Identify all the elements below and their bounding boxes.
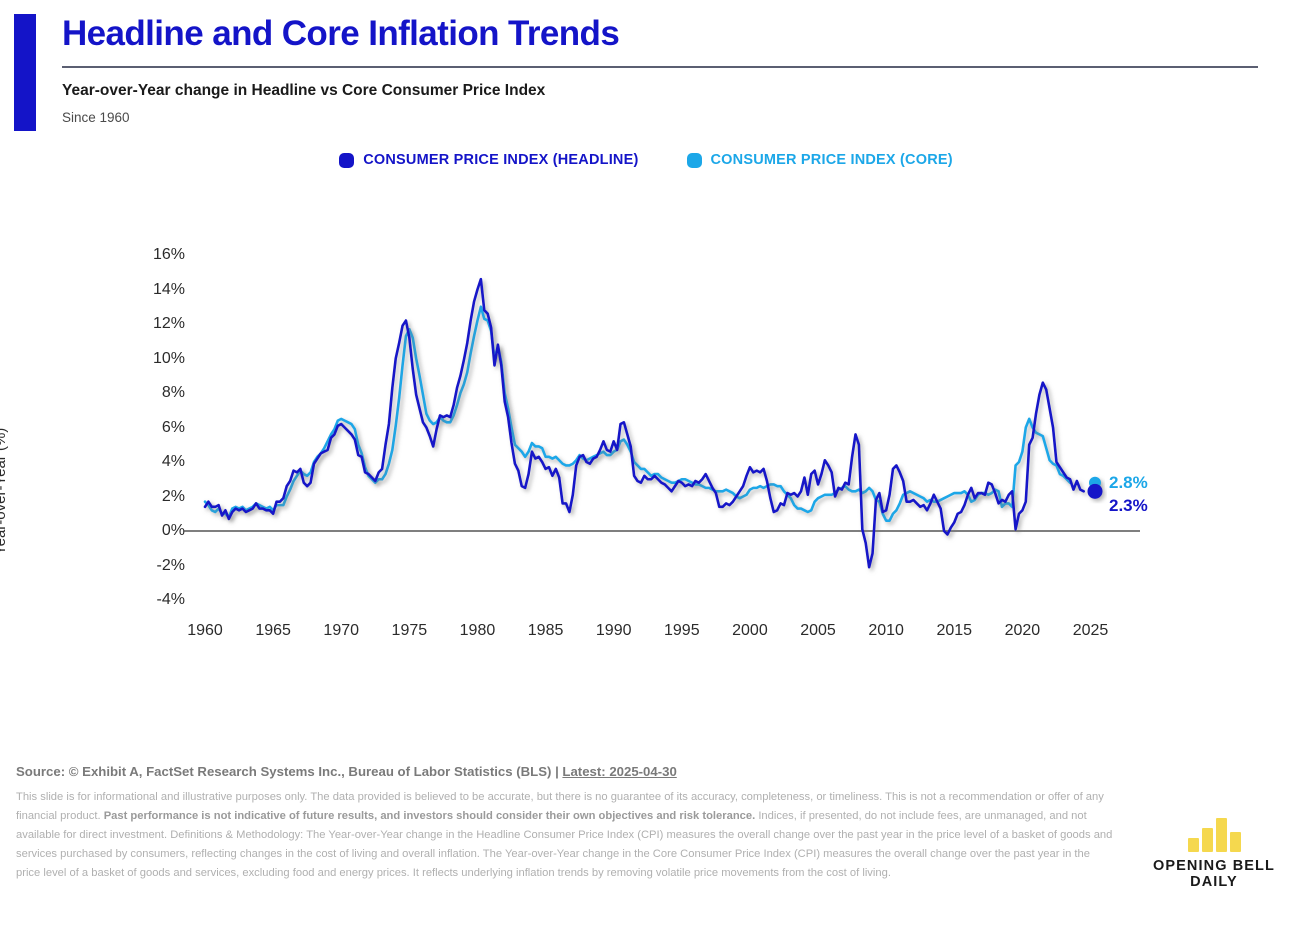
title-divider — [62, 66, 1258, 68]
source-line: Source: © Exhibit A, FactSet Research Sy… — [16, 764, 677, 779]
legend-item-headline[interactable]: CONSUMER PRICE INDEX (HEADLINE) — [339, 152, 638, 168]
legend-label-core: CONSUMER PRICE INDEX (CORE) — [711, 152, 953, 168]
accent-bar — [14, 14, 36, 131]
inflation-line-chart — [0, 200, 1292, 670]
chart-area: Year-over-Year (%) 16%14%12%10%8%6%4%2%0… — [0, 200, 1292, 670]
page-title: Headline and Core Inflation Trends — [62, 14, 619, 54]
chart-legend: CONSUMER PRICE INDEX (HEADLINE) CONSUMER… — [0, 152, 1292, 168]
series-line-core — [205, 307, 1070, 521]
source-text: Source: © Exhibit A, FactSet Research Sy… — [16, 764, 562, 779]
end-label-headline: 2.3% — [1109, 496, 1148, 516]
legend-swatch-core — [687, 153, 702, 168]
legend-item-core[interactable]: CONSUMER PRICE INDEX (CORE) — [687, 152, 953, 168]
disclaimer-text: This slide is for informational and illu… — [16, 788, 1116, 883]
source-latest: Latest: 2025-04-30 — [562, 764, 676, 779]
page-since-label: Since 1960 — [62, 110, 130, 125]
logo-line-1: OPENING BELL — [1148, 858, 1280, 874]
end-marker-headline — [1088, 484, 1103, 499]
brand-logo: OPENING BELL DAILY — [1148, 818, 1280, 890]
end-label-core: 2.8% — [1109, 473, 1148, 493]
disclaimer-bold: Past performance is not indicative of fu… — [104, 810, 756, 822]
logo-bars-icon — [1148, 818, 1280, 852]
legend-swatch-headline — [339, 153, 354, 168]
logo-line-2: DAILY — [1148, 874, 1280, 890]
slide-root: Headline and Core Inflation Trends Year-… — [0, 0, 1292, 930]
legend-label-headline: CONSUMER PRICE INDEX (HEADLINE) — [363, 152, 638, 168]
page-subtitle: Year-over-Year change in Headline vs Cor… — [62, 82, 545, 100]
